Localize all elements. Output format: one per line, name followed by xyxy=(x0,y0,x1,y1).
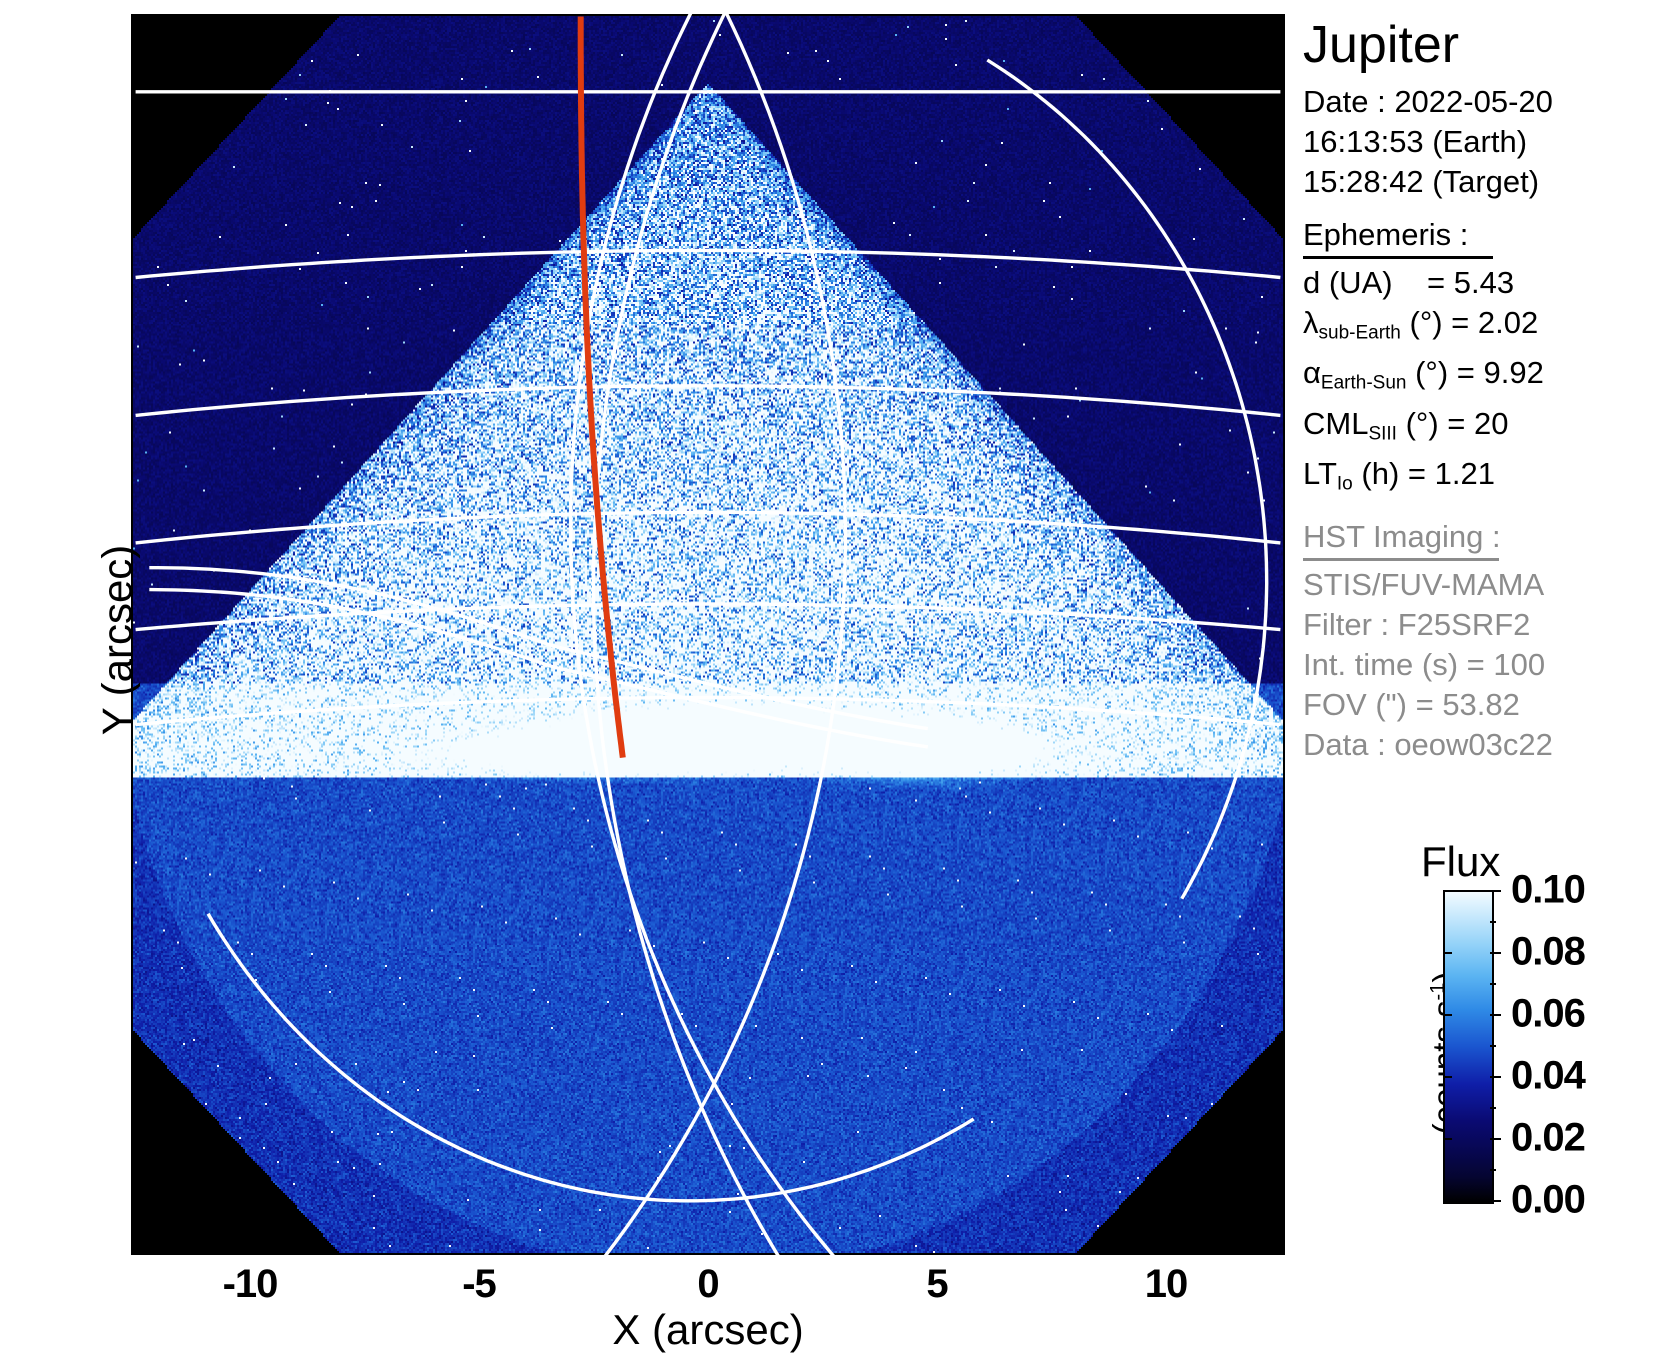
ephemeris-divider xyxy=(1303,256,1493,259)
colorbar-tick xyxy=(1490,890,1501,892)
hst-integration-time: Int. time (s) = 100 xyxy=(1303,645,1676,685)
colorbar-tick-label: 0.00 xyxy=(1511,1178,1585,1223)
alpha-value: = 9.92 xyxy=(1457,355,1544,390)
hst-imaging-divider xyxy=(1303,558,1499,561)
colorbar-minor-tick xyxy=(1490,983,1496,985)
alpha-symbol: α xyxy=(1303,355,1321,390)
x-axis-title: X (arcsec) xyxy=(612,1306,803,1354)
cml-subscript: SIII xyxy=(1368,423,1397,444)
colorbar-tick-label: 0.06 xyxy=(1511,992,1585,1037)
hst-filter: Filter : F25SRF2 xyxy=(1303,605,1676,645)
lambda-unit: (°) xyxy=(1410,305,1443,340)
hst-instrument: STIS/FUV-MAMA xyxy=(1303,565,1676,605)
observation-time-target: 15:28:42 (Target) xyxy=(1303,162,1676,202)
lambda-subscript: sub-Earth xyxy=(1319,322,1401,343)
x-tick-label: -10 xyxy=(223,1262,278,1307)
hst-data-id: Data : oeow03c22 xyxy=(1303,725,1676,765)
ephemeris-row-sub-earth-longitude: λsub-Earth (°) = 2.02 xyxy=(1303,303,1676,353)
ephemeris-row-io-local-time: LTIo (h) = 1.21 xyxy=(1303,454,1676,504)
ephemeris-row-phase-angle: αEarth-Sun (°) = 9.92 xyxy=(1303,353,1676,403)
alpha-subscript: Earth-Sun xyxy=(1321,373,1407,394)
colorbar-tick-label: 0.10 xyxy=(1511,868,1585,913)
colorbar-gradient[interactable] xyxy=(1443,890,1494,1204)
ephemeris-heading: Ephemeris : xyxy=(1303,216,1468,254)
colorbar-minor-tick xyxy=(1490,1107,1496,1109)
observation-time-earth: 16:13:53 (Earth) xyxy=(1303,122,1676,162)
colorbar-tick-label: 0.08 xyxy=(1511,930,1585,975)
cml-symbol: CML xyxy=(1303,406,1368,441)
colorbar-inner-tick xyxy=(1443,1076,1452,1078)
colorbar-tick xyxy=(1490,1200,1501,1202)
ephemeris-distance-label: d (UA) xyxy=(1303,265,1393,300)
colorbar-tick xyxy=(1490,1076,1501,1078)
colorbar-inner-tick xyxy=(1443,1138,1452,1140)
colorbar-minor-tick xyxy=(1490,1169,1496,1171)
colorbar-title: Flux xyxy=(1421,838,1500,886)
colorbar-tick xyxy=(1490,952,1501,954)
x-tick-label: 0 xyxy=(697,1262,718,1307)
lt-symbol: LT xyxy=(1303,456,1337,491)
colorbar-minor-tick xyxy=(1490,1045,1496,1047)
colorbar-inner-tick xyxy=(1443,1014,1452,1016)
lambda-value: = 2.02 xyxy=(1451,305,1538,340)
lt-unit: (h) xyxy=(1361,456,1399,491)
ephemeris-row-distance: d (UA) = 5.43 xyxy=(1303,263,1676,303)
hst-field-of-view: FOV (") = 53.82 xyxy=(1303,685,1676,725)
observation-date: Date : 2022-05-20 xyxy=(1303,82,1676,122)
cml-unit: (°) xyxy=(1406,406,1439,441)
y-axis-title-wrap: Y (arcsec) xyxy=(28,490,78,790)
lambda-symbol: λ xyxy=(1303,305,1319,340)
latitude-longitude-grid xyxy=(136,14,1281,1255)
image-plot-area[interactable] xyxy=(131,14,1285,1255)
graticule-overlay xyxy=(131,14,1285,1255)
x-tick-label: 5 xyxy=(926,1262,947,1307)
page-title: Jupiter xyxy=(1303,16,1676,74)
y-axis-title: Y (arcsec) xyxy=(93,545,141,736)
x-tick-label: 10 xyxy=(1145,1262,1188,1307)
ephemeris-distance-value: = 5.43 xyxy=(1427,265,1514,300)
colorbar-tick-label: 0.04 xyxy=(1511,1054,1585,1099)
colorbar-minor-tick xyxy=(1490,921,1496,923)
ephemeris-row-cml: CMLSIII (°) = 20 xyxy=(1303,404,1676,454)
x-tick-label: -5 xyxy=(462,1262,496,1307)
colorbar-inner-tick xyxy=(1443,952,1452,954)
alpha-unit: (°) xyxy=(1415,355,1448,390)
hst-imaging-heading: HST Imaging : xyxy=(1303,518,1501,556)
lt-subscript: Io xyxy=(1337,473,1353,494)
colorbar-tick xyxy=(1490,1014,1501,1016)
colorbar-tick-label: 0.02 xyxy=(1511,1116,1585,1161)
lt-value: = 1.21 xyxy=(1408,456,1495,491)
cml-value: = 20 xyxy=(1447,406,1508,441)
colorbar-tick xyxy=(1490,1138,1501,1140)
info-panel: Jupiter Date : 2022-05-20 16:13:53 (Eart… xyxy=(1299,0,1676,800)
colorbar-block: Flux (counts.s-1) 0.10 0.08 0.06 0.04 0.… xyxy=(1299,838,1676,1218)
